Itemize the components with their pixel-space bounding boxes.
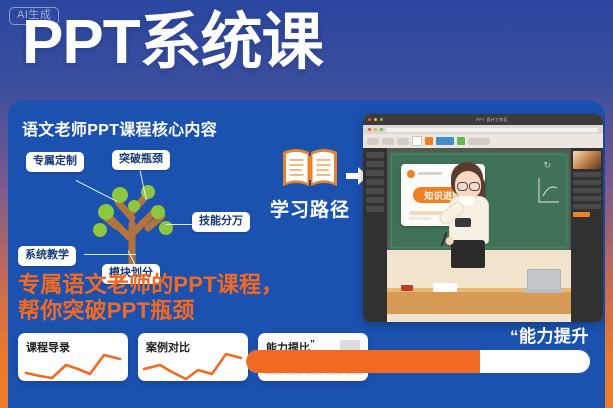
- card-case-comparison[interactable]: 案例对比: [138, 333, 248, 381]
- progress-bar-fill: [246, 350, 480, 373]
- section-heading: 语文老师PPT课程核心内容: [22, 116, 256, 140]
- open-book-icon: [279, 144, 341, 190]
- laptop-base: [523, 289, 563, 293]
- window-titlebar: PPT 设计工作区: [363, 114, 603, 125]
- swatch-white[interactable]: [412, 136, 422, 146]
- property-row[interactable]: [573, 204, 601, 209]
- laptop-icon: [523, 269, 563, 293]
- property-row-active[interactable]: [573, 212, 590, 217]
- page-title: PPT系统课: [22, 8, 323, 77]
- main-panel: 语文老师PPT课程核心内容: [8, 100, 605, 408]
- toolbar-chip[interactable]: [367, 138, 379, 145]
- close-icon: [368, 118, 371, 121]
- tree-leader-line: [166, 224, 194, 225]
- layer-row[interactable]: [366, 179, 384, 185]
- window-tabbar: [363, 125, 603, 134]
- desk-book: [401, 285, 413, 291]
- address-bar[interactable]: [386, 128, 598, 132]
- tab-dot-icon: [374, 128, 377, 131]
- desk-paper: [433, 283, 457, 292]
- tree-label-systematic: 系统教学: [18, 246, 76, 266]
- property-row[interactable]: [573, 196, 601, 201]
- slide-logo-icon: [407, 170, 415, 178]
- teacher-glasses-icon: [457, 182, 468, 191]
- ability-promo-text: “能力提升: [510, 322, 589, 347]
- color-picker-icon[interactable]: [573, 151, 601, 169]
- canvas-stage: 知识进阶 ↻: [387, 148, 571, 322]
- teacher-character: [439, 162, 497, 274]
- chalk-diagram-icon: [535, 176, 561, 206]
- window-body: 知识进阶 ↻: [363, 148, 603, 322]
- property-row[interactable]: [573, 172, 601, 177]
- toolbar-chip[interactable]: [397, 138, 409, 145]
- line-chart-icon: [18, 345, 128, 381]
- learning-path-label: 学习路径: [256, 195, 364, 222]
- toolbar-chip[interactable]: [382, 138, 394, 145]
- teacher-held-device: [455, 218, 471, 227]
- layer-row[interactable]: [366, 206, 384, 212]
- knowledge-tree-diagram: 专属定制 突破瓶颈 技能分万 系统教学 模块划分: [16, 146, 256, 281]
- layer-row[interactable]: [366, 161, 384, 167]
- properties-panel: [571, 148, 603, 322]
- swatch-blue[interactable]: [436, 137, 454, 145]
- layer-row[interactable]: [366, 170, 384, 176]
- layer-row[interactable]: [366, 188, 384, 194]
- slide-footer-bar: [409, 211, 443, 215]
- tree-leader-line: [84, 254, 136, 255]
- promo-headline: 专属语文老师的PPT课程， 帮你突破PPT瓶颈: [18, 272, 283, 324]
- layer-row[interactable]: [366, 197, 384, 203]
- window-toolbar: [363, 134, 603, 148]
- tree-label-breakthrough: 突破瓶颈: [112, 150, 170, 170]
- property-row[interactable]: [573, 180, 601, 185]
- minimize-icon: [374, 118, 377, 121]
- progress-bar[interactable]: [246, 350, 590, 373]
- layers-panel: [363, 148, 387, 322]
- layer-row[interactable]: [366, 152, 384, 158]
- teacher-glasses-icon: [469, 182, 480, 191]
- tree-label-custom: 专属定制: [26, 152, 84, 172]
- window-title-text: PPT 设计工作区: [386, 117, 598, 123]
- property-row[interactable]: [573, 188, 601, 193]
- core-content-section: 语文老师PPT课程核心内容: [16, 112, 256, 292]
- desk: [387, 292, 571, 314]
- card-course-index[interactable]: 课程导录: [18, 333, 128, 381]
- quote-mark: ”: [310, 339, 315, 350]
- slide-footer-bar: [409, 217, 431, 220]
- swatch-green[interactable]: [457, 137, 465, 145]
- poster-root: AI生成 PPT系统课 语文老师PPT课程核心内容: [0, 0, 613, 408]
- ai-generated-badge: AI生成: [9, 7, 59, 25]
- toolbar-chip[interactable]: [468, 138, 490, 145]
- swatch-orange[interactable]: [425, 137, 433, 145]
- maximize-icon: [380, 118, 383, 121]
- teacher-skirt: [451, 240, 485, 268]
- design-app-window: PPT 设计工作区: [363, 114, 603, 322]
- headline-line-1: 专属语文老师的PPT课程，: [18, 272, 283, 298]
- tab-dot-icon: [368, 128, 371, 131]
- line-chart-icon: [138, 345, 248, 381]
- chalk-doodle: ↻: [543, 160, 551, 171]
- tree-label-skills: 技能分万: [192, 212, 250, 232]
- laptop-screen: [527, 269, 561, 291]
- tab-dot-icon: [380, 128, 383, 131]
- headline-line-2: 帮你突破PPT瓶颈: [18, 298, 283, 324]
